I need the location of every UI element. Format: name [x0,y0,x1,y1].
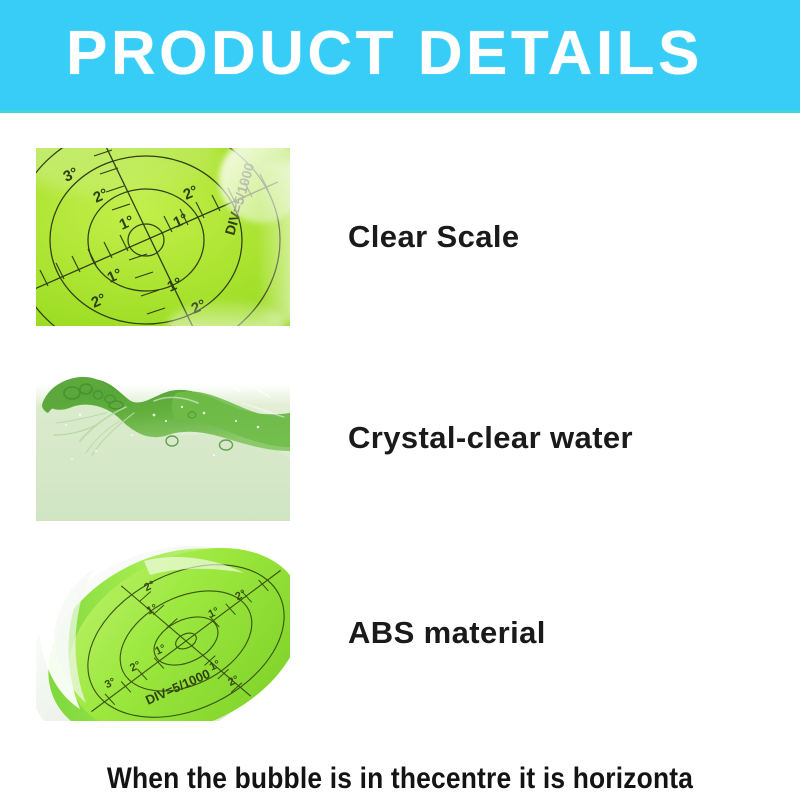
bottom-caption: When the bubble is in thecentre it is ho… [48,762,752,796]
feature-label-abs-material: ABS material [348,615,546,651]
feature-row: 3° 2° 1° 2° 1° 1° 2° 1° 2° DIV=5/1000 [0,148,800,326]
feature-image-clear-scale: 3° 2° 1° 2° 1° 1° 2° 1° 2° DIV=5/1000 [36,148,290,326]
feature-image-abs-material: 3° 2° 1° 1° 2° 1° 2° 1° 2° DIV=5/1000 [36,545,290,721]
svg-text:3°: 3° [61,164,81,185]
bullseye-spirit-level-closeup-icon: 3° 2° 1° 2° 1° 1° 2° 1° 2° DIV=5/1000 [36,148,290,326]
svg-text:2°: 2° [91,185,111,206]
angled-spirit-level-body-icon: 3° 2° 1° 1° 2° 1° 2° 1° 2° DIV=5/1000 [36,545,290,721]
svg-text:1°: 1° [165,274,185,295]
green-water-splash-icon [36,355,290,521]
svg-text:1°: 1° [105,265,125,286]
feature-label-crystal-clear-water: Crystal-clear water [348,420,633,456]
header-banner: PRODUCT DETAILS [0,0,800,113]
feature-row: Crystal-clear water [0,355,800,521]
feature-row: 3° 2° 1° 1° 2° 1° 2° 1° 2° DIV=5/1000 [0,545,800,721]
housing-rim-right [260,162,290,322]
svg-text:2°: 2° [89,290,109,311]
angled-level-graphic: 3° 2° 1° 1° 2° 1° 2° 1° 2° DIV=5/1000 [36,545,290,721]
feature-image-crystal-clear-water [36,355,290,521]
water-splash-graphic [36,355,290,521]
svg-text:1°: 1° [117,212,137,233]
page-title: PRODUCT DETAILS [66,23,703,85]
feature-label-clear-scale: Clear Scale [348,219,520,255]
